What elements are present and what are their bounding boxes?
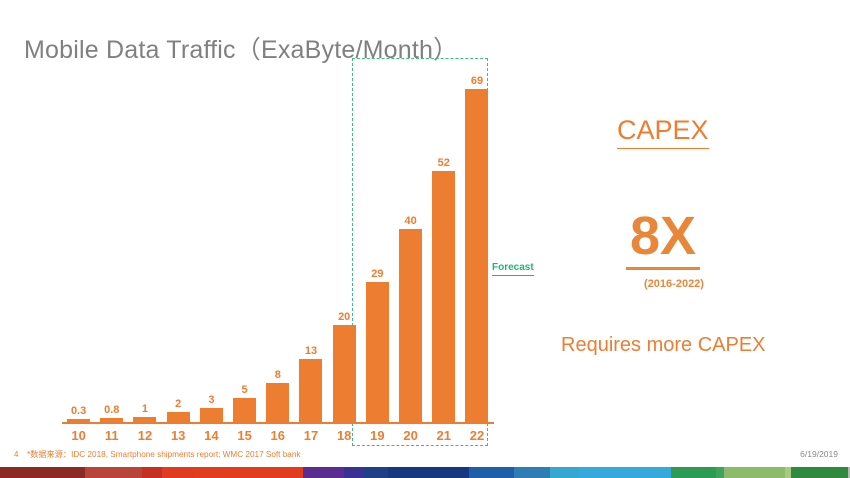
capex-heading: CAPEX bbox=[617, 115, 709, 149]
color-strip-segment bbox=[724, 467, 785, 478]
x-axis-tick-label: 18 bbox=[328, 428, 361, 443]
capex-multiplier-range: (2016-2022) bbox=[628, 278, 720, 291]
bottom-color-strip bbox=[0, 467, 850, 478]
forecast-label: Forecast bbox=[492, 262, 534, 276]
capex-multiplier: 8X bbox=[626, 207, 700, 270]
x-axis-tick-labels: 10111213141516171819202122 bbox=[62, 50, 494, 450]
color-strip-segment bbox=[716, 467, 724, 478]
x-axis-tick-label: 17 bbox=[294, 428, 327, 443]
color-strip-segment bbox=[388, 467, 469, 478]
color-strip-segment bbox=[194, 467, 303, 478]
color-strip-segment bbox=[364, 467, 388, 478]
x-axis-tick-label: 16 bbox=[261, 428, 294, 443]
x-axis-tick-label: 14 bbox=[195, 428, 228, 443]
x-axis-tick-label: 10 bbox=[62, 428, 95, 443]
x-axis-tick-label: 21 bbox=[427, 428, 460, 443]
color-strip-segment bbox=[469, 467, 513, 478]
color-strip-segment bbox=[162, 467, 194, 478]
x-axis-tick-label: 19 bbox=[361, 428, 394, 443]
color-strip-segment bbox=[344, 467, 364, 478]
x-axis-tick-label: 11 bbox=[95, 428, 128, 443]
color-strip-segment bbox=[0, 467, 85, 478]
slide-date: 6/19/2019 bbox=[800, 449, 838, 459]
color-strip-segment bbox=[578, 467, 671, 478]
color-strip-segment bbox=[303, 467, 343, 478]
x-axis-tick-label: 22 bbox=[460, 428, 493, 443]
color-strip-segment bbox=[514, 467, 550, 478]
color-strip-segment bbox=[791, 467, 848, 478]
source-footnote: *数据来源：IDC 2018, Smartphone shipments rep… bbox=[27, 450, 301, 460]
x-axis-tick-label: 12 bbox=[128, 428, 161, 443]
color-strip-segment bbox=[142, 467, 162, 478]
x-axis-tick-label: 13 bbox=[162, 428, 195, 443]
slide: Mobile Data Traffic（ExaByte/Month） Forec… bbox=[0, 0, 850, 478]
mobile-data-traffic-bar-chart: Forecast 0.30.812358132029405269 1011121… bbox=[0, 50, 560, 450]
color-strip-segment bbox=[85, 467, 142, 478]
x-axis-tick-label: 20 bbox=[394, 428, 427, 443]
capex-note: Requires more CAPEX bbox=[561, 333, 766, 357]
color-strip-segment bbox=[671, 467, 715, 478]
slide-page-number: 4 bbox=[14, 450, 18, 460]
color-strip-segment bbox=[550, 467, 578, 478]
x-axis-tick-label: 15 bbox=[228, 428, 261, 443]
